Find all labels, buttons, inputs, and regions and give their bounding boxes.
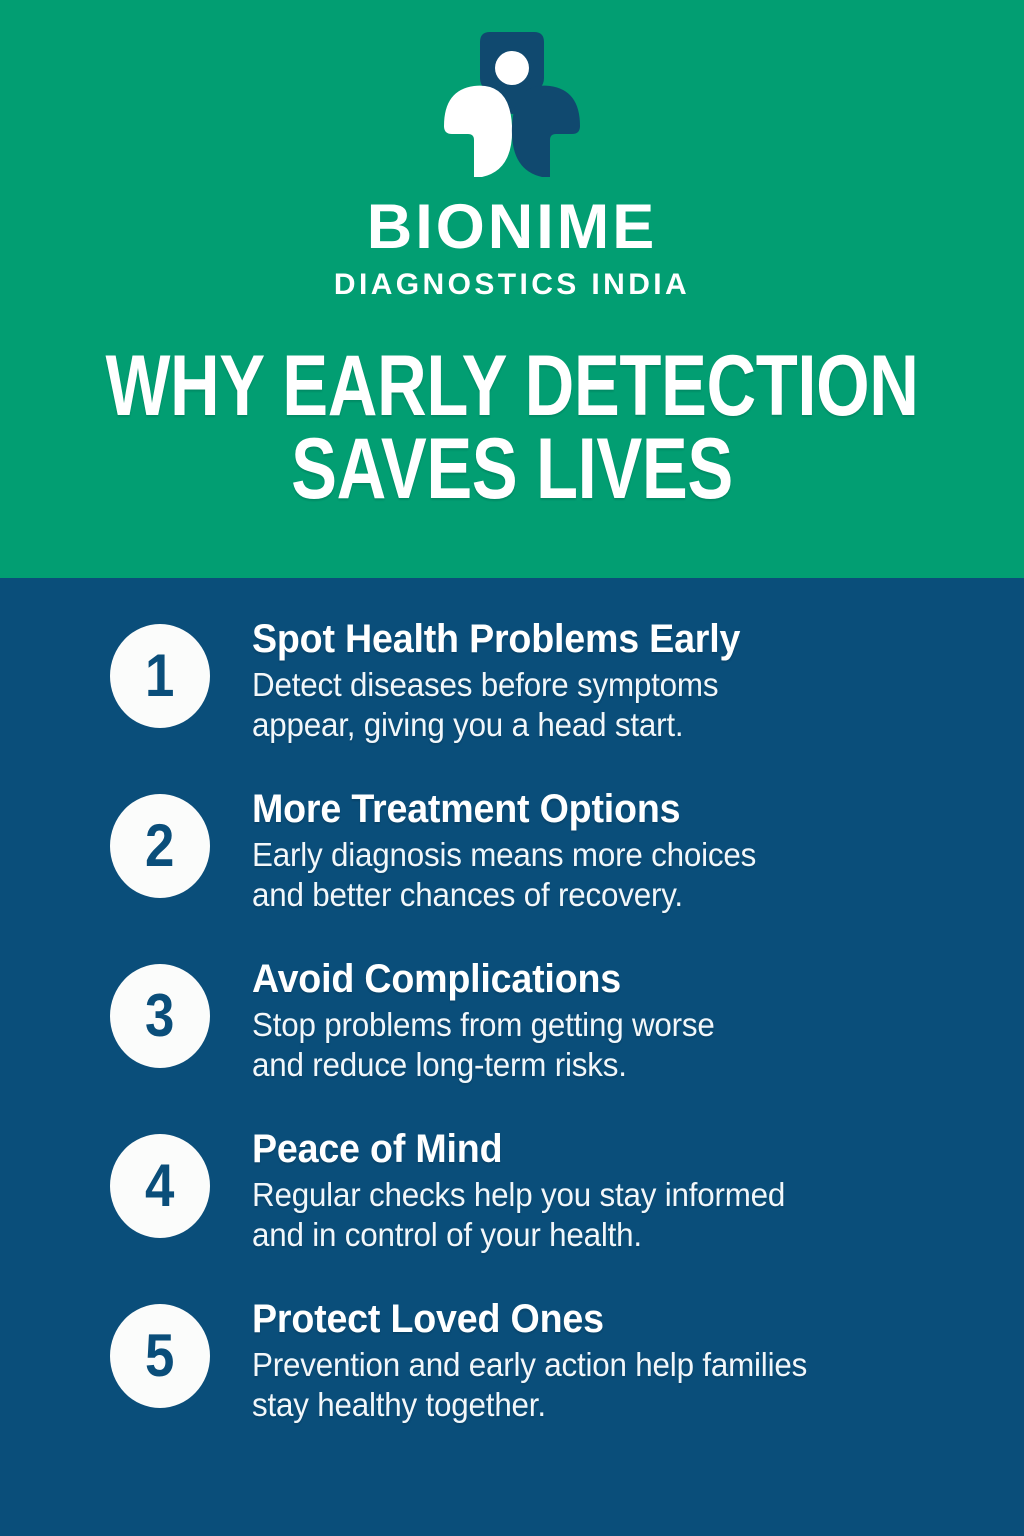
benefit-desc-line-1: Detect diseases before symptoms (252, 665, 745, 705)
benefit-text-block: Spot Health Problems Early Detect diseas… (252, 614, 771, 746)
list-item: 1 Spot Health Problems Early Detect dise… (0, 614, 1024, 784)
benefit-text-block: Protect Loved Ones Prevention and early … (252, 1294, 836, 1426)
benefit-title: Spot Health Problems Early (252, 618, 740, 661)
number-badge: 5 (110, 1304, 210, 1408)
benefit-description: Early diagnosis means more choices and b… (252, 835, 756, 916)
benefit-title: Protect Loved Ones (252, 1298, 801, 1341)
headline-line-2: SAVES LIVES (0, 428, 1024, 511)
benefit-text-block: More Treatment Options Early diagnosis m… (252, 784, 783, 916)
benefit-text-block: Avoid Complications Stop problems from g… (252, 954, 739, 1086)
benefit-desc-line-2: stay healthy together. (252, 1385, 807, 1425)
brand-name: BIONIME (367, 196, 658, 259)
number-badge: 3 (110, 964, 210, 1068)
benefit-description: Prevention and early action help familie… (252, 1345, 807, 1426)
benefit-desc-line-2: appear, giving you a head start. (252, 705, 745, 745)
brand-subtitle: DIAGNOSTICS INDIA (334, 270, 690, 300)
bionime-people-logo (432, 30, 592, 180)
list-item: 2 More Treatment Options Early diagnosis… (0, 784, 1024, 954)
list-item: 3 Avoid Complications Stop problems from… (0, 954, 1024, 1124)
badge-number: 5 (145, 1326, 174, 1386)
page-title: WHY EARLY DETECTION SAVES LIVES (0, 345, 1024, 512)
benefit-title: More Treatment Options (252, 788, 751, 831)
benefit-desc-line-2: and reduce long-term risks. (252, 1045, 715, 1085)
benefit-desc-line-1: Prevention and early action help familie… (252, 1345, 807, 1385)
benefit-desc-line-2: and in control of your health. (252, 1215, 785, 1255)
benefit-title: Avoid Complications (252, 958, 710, 1001)
benefit-text-block: Peace of Mind Regular checks help you st… (252, 1124, 813, 1256)
benefit-description: Detect diseases before symptoms appear, … (252, 665, 745, 746)
list-item: 5 Protect Loved Ones Prevention and earl… (0, 1294, 1024, 1464)
list-item: 4 Peace of Mind Regular checks help you … (0, 1124, 1024, 1294)
badge-number: 3 (145, 986, 174, 1046)
benefit-description: Regular checks help you stay informed an… (252, 1175, 785, 1256)
number-badge: 4 (110, 1134, 210, 1238)
number-badge: 1 (110, 624, 210, 728)
benefit-desc-line-1: Early diagnosis means more choices (252, 835, 756, 875)
hero-section: BIONIME DIAGNOSTICS INDIA WHY EARLY DETE… (0, 0, 1024, 578)
benefit-desc-line-1: Regular checks help you stay informed (252, 1175, 785, 1215)
badge-number: 1 (145, 646, 174, 706)
benefit-title: Peace of Mind (252, 1128, 780, 1171)
benefits-list: 1 Spot Health Problems Early Detect dise… (0, 578, 1024, 1536)
badge-number: 2 (145, 816, 174, 876)
infographic-poster: BIONIME DIAGNOSTICS INDIA WHY EARLY DETE… (0, 0, 1024, 1536)
headline-line-1: WHY EARLY DETECTION (0, 345, 1024, 428)
benefit-desc-line-2: and better chances of recovery. (252, 875, 756, 915)
badge-number: 4 (145, 1156, 174, 1216)
benefit-desc-line-1: Stop problems from getting worse (252, 1005, 715, 1045)
benefit-description: Stop problems from getting worse and red… (252, 1005, 715, 1086)
number-badge: 2 (110, 794, 210, 898)
